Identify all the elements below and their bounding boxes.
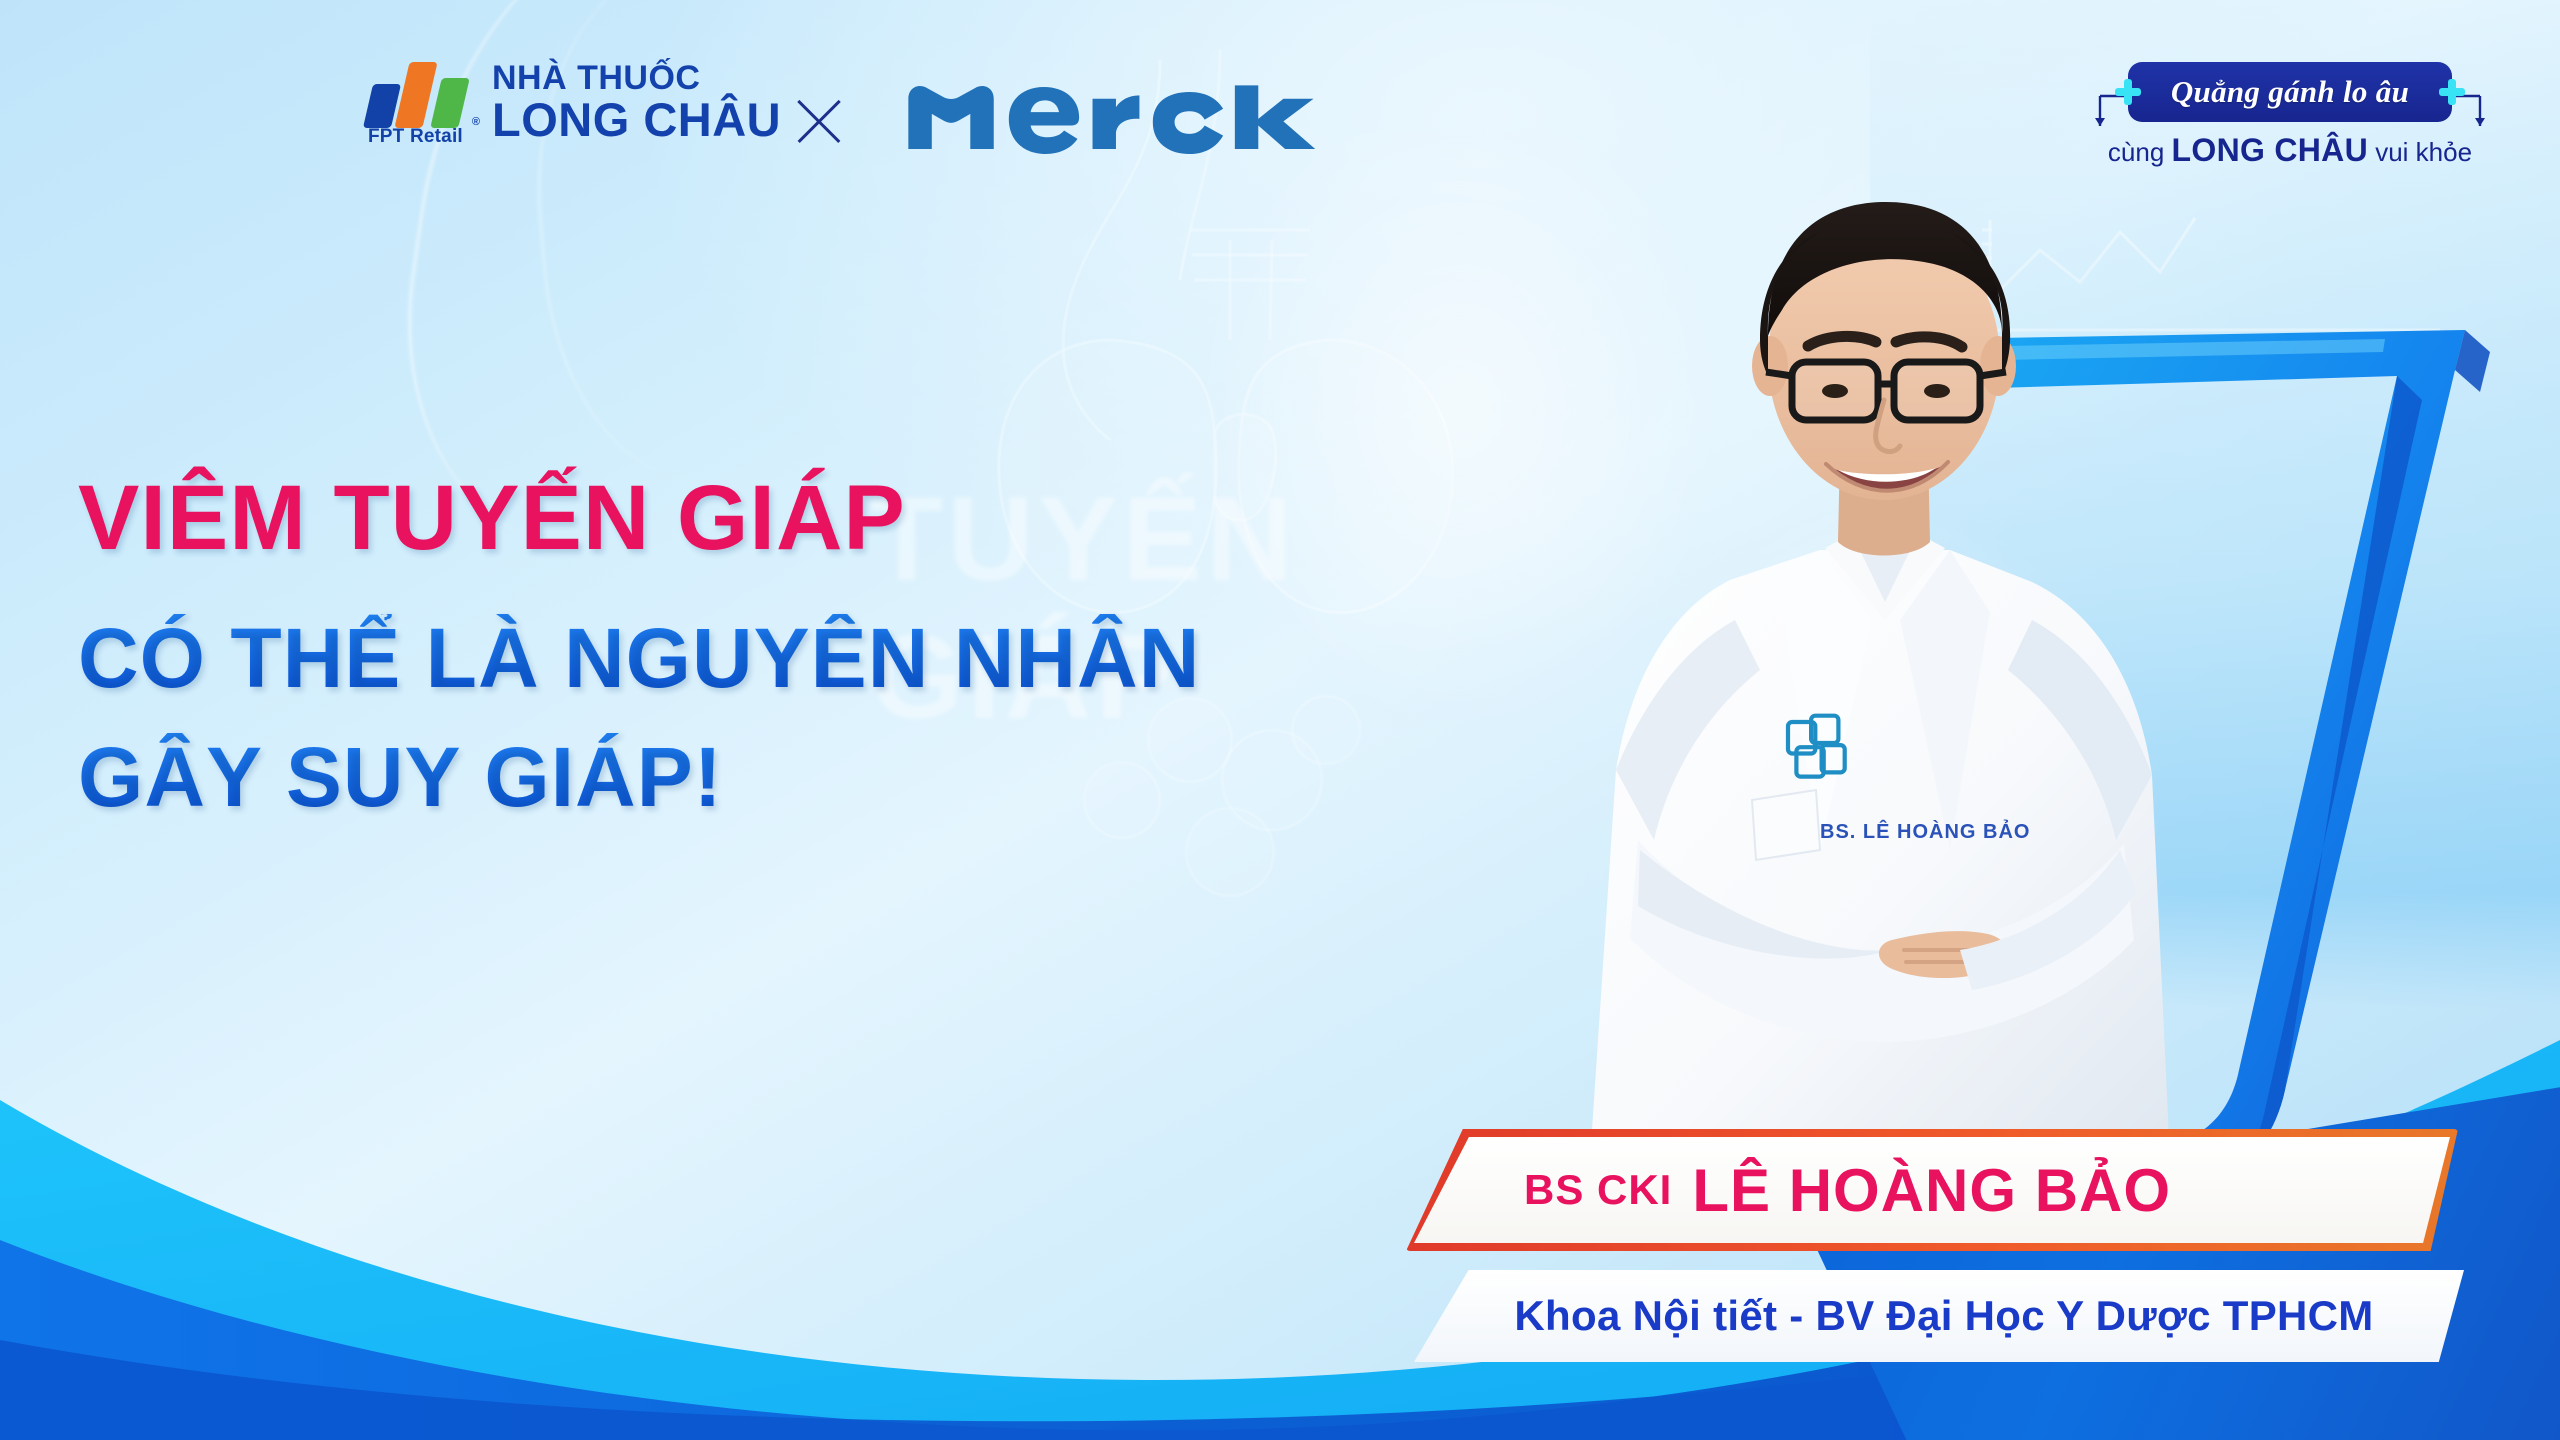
slogan-text: Quẳng gánh lo âu [2171, 74, 2409, 110]
slogan-sub-before: cùng [2108, 137, 2172, 167]
speaker-name-banner: BS CKI LÊ HOÀNG BẢO [1414, 1137, 2450, 1243]
fpt-retail-logo-icon: ® FPT Retail [368, 64, 476, 142]
cross-icon [2115, 79, 2141, 105]
slogan-badge: Quẳng gánh lo âu cùng LONG CHÂU vui khỏe [2090, 62, 2490, 169]
cross-icon [2439, 79, 2465, 105]
long-chau-logo[interactable]: ® FPT Retail NHÀ THUỐC LONG CHÂU [368, 62, 781, 143]
long-chau-line1: NHÀ THUỐC [492, 62, 781, 95]
speaker-title: BS CKI [1524, 1166, 1672, 1214]
slogan-sub-after: vui khỏe [2368, 137, 2472, 167]
speaker-name: LÊ HOÀNG BẢO [1692, 1156, 2171, 1225]
close-icon [790, 92, 848, 150]
promo-banner: TUYẾN GIÁP [0, 0, 2560, 1440]
speaker-department-banner: Khoa Nội tiết - BV Đại Học Y Dược TPHCM [1414, 1270, 2464, 1362]
headline-line-3: GÂY SUY GIÁP! [78, 733, 1200, 822]
headline-line-2: CÓ THỂ LÀ NGUYÊN NHÂN [78, 614, 1200, 703]
headline: VIÊM TUYẾN GIÁP CÓ THỂ LÀ NGUYÊN NHÂN GÂ… [78, 470, 1200, 822]
speaker-department: Khoa Nội tiết - BV Đại Học Y Dược TPHCM [1514, 1292, 2373, 1340]
long-chau-line2: LONG CHÂU [492, 97, 781, 143]
svg-text:BS. LÊ HOÀNG BẢO: BS. LÊ HOÀNG BẢO [1820, 819, 2030, 843]
headline-line-1: VIÊM TUYẾN GIÁP [78, 470, 1200, 568]
doctor-portrait: BS. LÊ HOÀNG BẢO [1520, 150, 2240, 1160]
fpt-retail-label: FPT Retail [368, 126, 463, 148]
slogan-pill: Quẳng gánh lo âu [2128, 62, 2452, 122]
merck-logo-icon[interactable] [905, 82, 1374, 154]
